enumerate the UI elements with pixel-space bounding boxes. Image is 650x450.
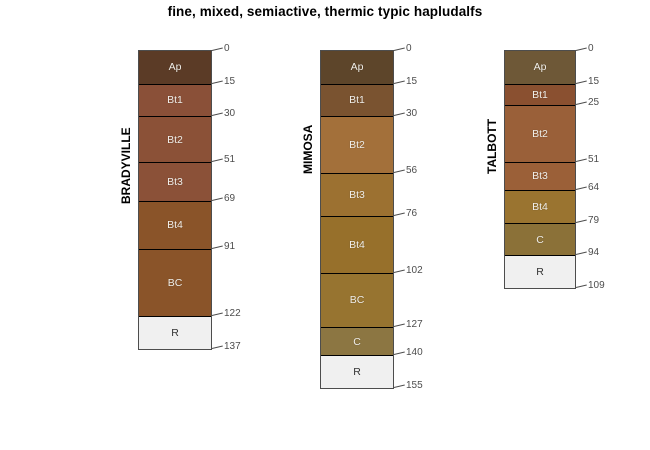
tick-mark-icon — [394, 80, 405, 83]
tick-mark-icon — [212, 113, 223, 116]
horizon-r[interactable]: R — [321, 355, 393, 388]
tick-label: 51 — [588, 154, 599, 165]
horizon-r[interactable]: R — [505, 255, 575, 288]
horizon-bt4[interactable]: Bt4 — [321, 216, 393, 273]
tick-mark-icon — [212, 198, 223, 201]
horizon-label: C — [353, 336, 361, 348]
tick-label: 0 — [406, 43, 412, 54]
tick-label: 0 — [224, 43, 230, 54]
horizon-label: C — [536, 234, 544, 246]
tick-label: 0 — [588, 43, 594, 54]
horizon-label: Bt3 — [532, 170, 548, 182]
tick-mark-icon — [394, 385, 405, 388]
tick-label: 25 — [588, 97, 599, 108]
horizon-label: R — [353, 366, 361, 378]
site-label-mimosa: MIMOSA — [301, 125, 315, 174]
horizon-label: Bt3 — [167, 176, 183, 188]
horizon-label: Bt1 — [349, 94, 365, 106]
tick-label: 102 — [406, 265, 423, 276]
tick-label: 15 — [224, 76, 235, 87]
horizon-label: BC — [350, 294, 365, 306]
horizon-label: Ap — [534, 61, 547, 73]
horizon-bt2[interactable]: Bt2 — [505, 105, 575, 162]
tick-mark-icon — [576, 252, 587, 255]
horizon-bt4[interactable]: Bt4 — [505, 190, 575, 223]
tick-label: 30 — [224, 108, 235, 119]
tick-mark-icon — [576, 158, 587, 161]
horizon-bc[interactable]: BC — [139, 249, 211, 316]
tick-mark-icon — [394, 352, 405, 355]
tick-mark-icon — [394, 269, 405, 272]
horizon-label: Bt2 — [349, 139, 365, 151]
tick-mark-icon — [394, 169, 405, 172]
tick-mark-icon — [212, 313, 223, 316]
horizon-label: Bt2 — [532, 128, 548, 140]
horizon-bt3[interactable]: Bt3 — [139, 162, 211, 201]
horizon-c[interactable]: C — [321, 327, 393, 355]
tick-mark-icon — [394, 213, 405, 216]
horizon-label: BC — [168, 277, 183, 289]
horizon-c[interactable]: C — [505, 223, 575, 256]
horizon-label: Ap — [351, 61, 364, 73]
horizon-label: Bt4 — [349, 239, 365, 251]
tick-mark-icon — [394, 113, 405, 116]
tick-mark-icon — [394, 324, 405, 327]
horizon-bt1[interactable]: Bt1 — [321, 84, 393, 117]
horizon-bt4[interactable]: Bt4 — [139, 201, 211, 249]
tick-label: 76 — [406, 208, 417, 219]
tick-mark-icon — [576, 102, 587, 105]
tick-mark-icon — [212, 245, 223, 248]
tick-mark-icon — [212, 48, 223, 51]
horizon-label: Bt4 — [167, 219, 183, 231]
site-label-talbott: TALBOTT — [485, 119, 499, 174]
horizon-label: Bt1 — [167, 94, 183, 106]
horizon-ap[interactable]: Ap — [505, 51, 575, 84]
profile-column-mimosa: ApBt1Bt2Bt3Bt4BCCR — [320, 50, 394, 389]
horizon-bt2[interactable]: Bt2 — [321, 116, 393, 173]
tick-label: 94 — [588, 247, 599, 258]
tick-label: 56 — [406, 165, 417, 176]
horizon-label: Bt2 — [167, 134, 183, 146]
tick-label: 15 — [406, 76, 417, 87]
horizon-bt3[interactable]: Bt3 — [505, 162, 575, 190]
horizon-r[interactable]: R — [139, 316, 211, 349]
horizon-bt3[interactable]: Bt3 — [321, 173, 393, 216]
tick-mark-icon — [212, 345, 223, 348]
tick-mark-icon — [212, 158, 223, 161]
horizon-bc[interactable]: BC — [321, 273, 393, 327]
horizon-bt1[interactable]: Bt1 — [139, 84, 211, 117]
tick-label: 64 — [588, 182, 599, 193]
tick-label: 122 — [224, 308, 241, 319]
tick-label: 109 — [588, 280, 605, 291]
horizon-label: R — [171, 327, 179, 339]
tick-label: 79 — [588, 215, 599, 226]
tick-mark-icon — [576, 187, 587, 190]
horizon-bt2[interactable]: Bt2 — [139, 116, 211, 162]
tick-label: 155 — [406, 380, 423, 391]
site-label-bradyville: BRADYVILLE — [119, 127, 133, 204]
horizon-ap[interactable]: Ap — [321, 51, 393, 84]
tick-label: 91 — [224, 241, 235, 252]
tick-label: 140 — [406, 347, 423, 358]
soil-profile-chart: fine, mixed, semiactive, thermic typic h… — [0, 0, 650, 450]
tick-label: 127 — [406, 319, 423, 330]
horizon-label: Ap — [169, 61, 182, 73]
tick-mark-icon — [576, 48, 587, 51]
horizon-label: Bt3 — [349, 189, 365, 201]
profile-column-bradyville: ApBt1Bt2Bt3Bt4BCR — [138, 50, 212, 350]
horizon-label: Bt1 — [532, 89, 548, 101]
horizon-label: R — [536, 266, 544, 278]
tick-label: 30 — [406, 108, 417, 119]
tick-label: 137 — [224, 341, 241, 352]
tick-label: 51 — [224, 154, 235, 165]
tick-mark-icon — [576, 284, 587, 287]
tick-mark-icon — [394, 48, 405, 51]
horizon-bt1[interactable]: Bt1 — [505, 84, 575, 106]
chart-title: fine, mixed, semiactive, thermic typic h… — [0, 4, 650, 19]
profile-column-talbott: ApBt1Bt2Bt3Bt4CR — [504, 50, 576, 289]
tick-label: 69 — [224, 193, 235, 204]
tick-label: 15 — [588, 76, 599, 87]
horizon-ap[interactable]: Ap — [139, 51, 211, 84]
tick-mark-icon — [576, 219, 587, 222]
horizon-label: Bt4 — [532, 201, 548, 213]
tick-mark-icon — [212, 80, 223, 83]
tick-mark-icon — [576, 80, 587, 83]
